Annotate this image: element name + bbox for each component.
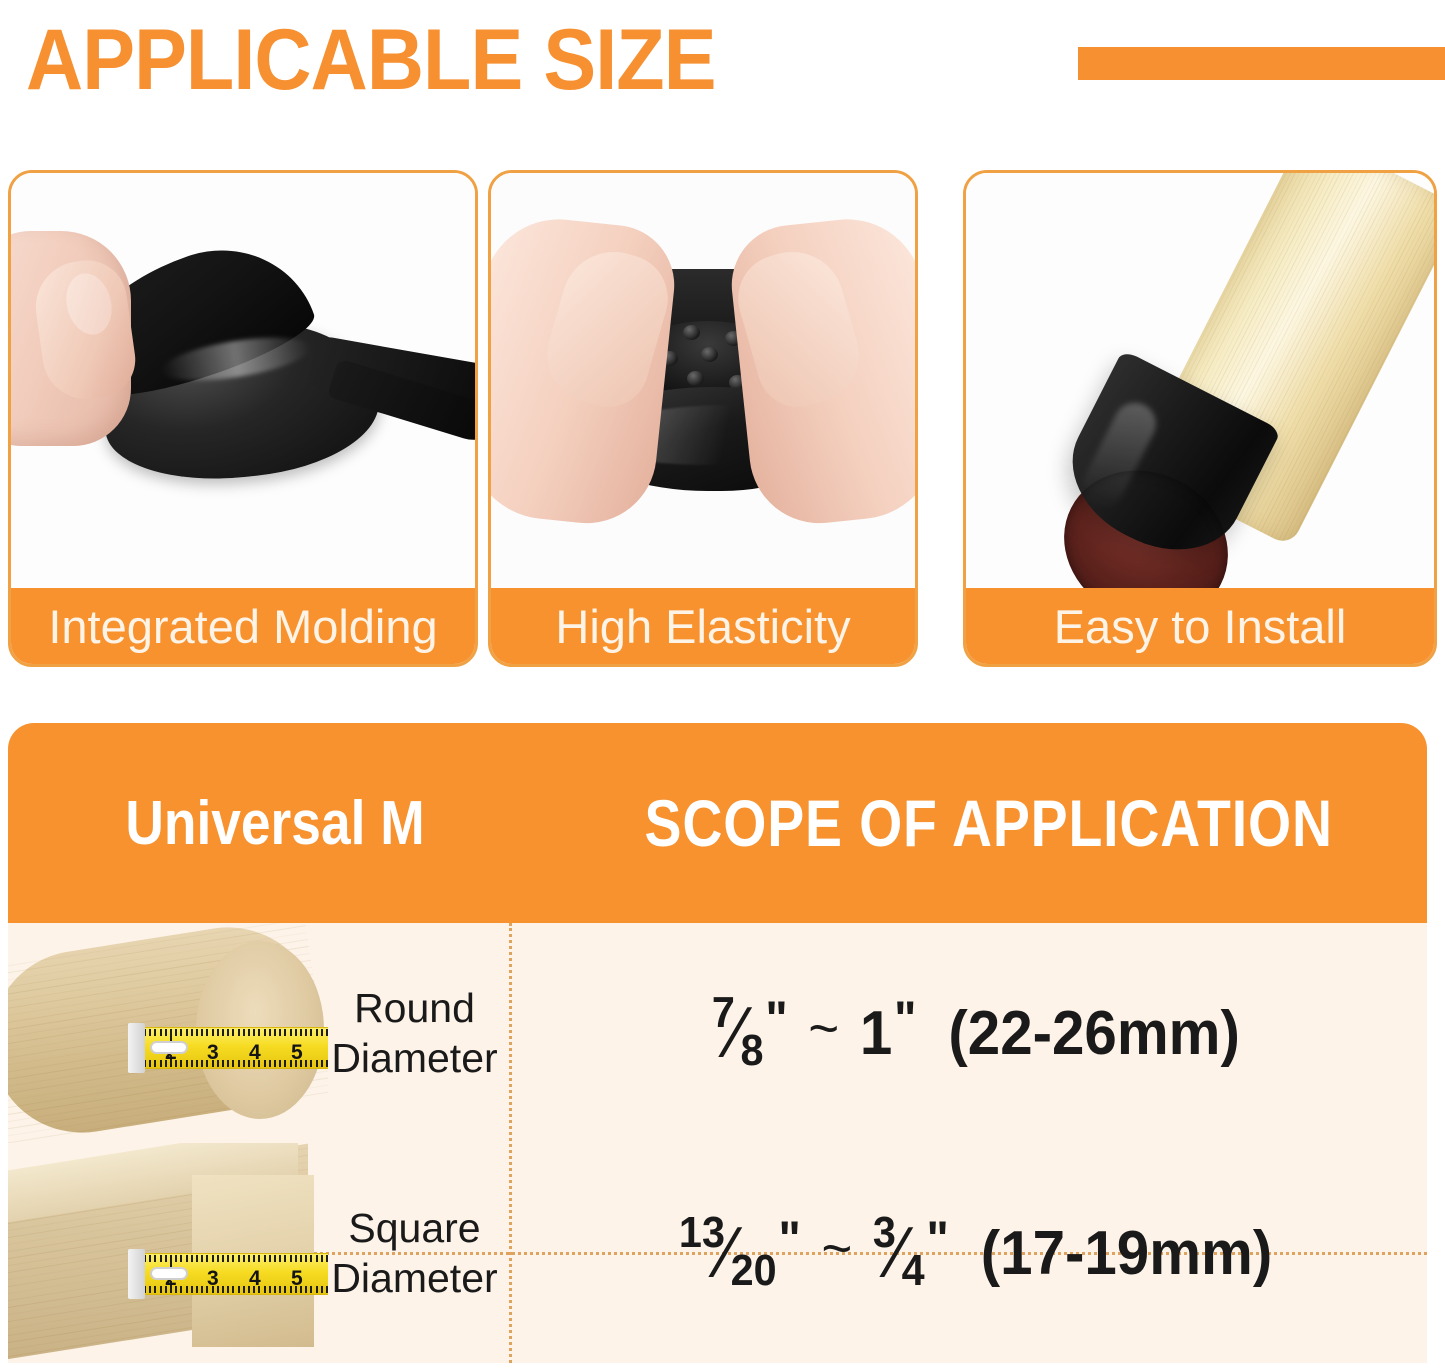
inch-mark: "	[766, 990, 788, 1048]
tape-measure-number: 4	[249, 1267, 261, 1291]
tape-tick	[191, 1255, 193, 1262]
feature-card-caption: Easy to Install	[966, 588, 1434, 664]
fraction-denominator: 4	[902, 1249, 925, 1293]
range-upper-whole: 1	[860, 998, 892, 1069]
tape-tick	[232, 1286, 234, 1293]
tape-tick	[186, 1029, 188, 1036]
tape-tick	[321, 1060, 323, 1067]
tape-tick	[290, 1029, 292, 1036]
metric-range: (17-19mm)	[981, 1218, 1273, 1289]
tape-tick	[321, 1255, 323, 1262]
tape-tick	[274, 1060, 276, 1067]
tape-tick	[326, 1029, 328, 1036]
tape-tick	[160, 1286, 162, 1293]
spec-header-scope-cell: SCOPE OF APPLICATION	[560, 785, 1427, 861]
page-title: APPLICABLE SIZE	[26, 12, 716, 108]
tape-tick	[212, 1029, 214, 1036]
tape-tick	[279, 1286, 281, 1293]
tape-tick	[316, 1060, 318, 1067]
tape-tick	[191, 1060, 193, 1067]
feature-card-row: Integrated Molding High Elasticity	[0, 170, 1445, 670]
fraction-denominator: 8	[741, 1029, 764, 1073]
tape-tick	[316, 1286, 318, 1293]
feature-card-caption-text: Easy to Install	[1054, 599, 1347, 654]
photo-high-elasticity	[491, 173, 915, 591]
tape-tick	[217, 1255, 219, 1262]
tape-tick	[279, 1029, 281, 1036]
spec-table-header: Universal M SCOPE OF APPLICATION	[8, 723, 1427, 923]
tape-tick	[201, 1029, 203, 1036]
photo-integrated-molding	[11, 173, 475, 591]
tape-tick	[154, 1029, 156, 1036]
tape-tick	[264, 1060, 266, 1067]
tape-hook	[128, 1023, 145, 1073]
tape-tick	[253, 1255, 255, 1262]
tape-tick	[201, 1060, 203, 1067]
tape-tick	[300, 1029, 302, 1036]
tape-tick	[196, 1029, 198, 1036]
tape-tick	[196, 1060, 198, 1067]
tape-tick	[243, 1029, 245, 1036]
tape-tick	[180, 1286, 182, 1293]
tape-tick	[206, 1255, 208, 1262]
tape-tick	[243, 1286, 245, 1293]
tape-tick	[295, 1029, 297, 1036]
tape-tick	[269, 1060, 271, 1067]
tape-tick	[264, 1029, 266, 1036]
tape-tick	[201, 1286, 203, 1293]
tape-tick	[212, 1255, 214, 1262]
tape-measure-number: 5	[291, 1041, 303, 1065]
tape-tick	[316, 1029, 318, 1036]
tape-tick	[149, 1286, 151, 1293]
feature-card-caption: Integrated Molding	[11, 588, 475, 664]
tape-measure-number: 3	[207, 1267, 219, 1291]
tape-hook	[128, 1249, 145, 1299]
tape-measure-number: 3	[207, 1041, 219, 1065]
spec-table-body: 2345 RoundDiameter 7 ⁄ 8 " ~	[8, 923, 1427, 1363]
fraction-thirteen-twentieths: 13 ⁄ 20	[679, 1217, 777, 1289]
tape-tick	[222, 1255, 224, 1262]
round-diameter-value-text: 7 ⁄ 8 " ~ 1 " (22-26mm)	[712, 997, 1240, 1069]
tape-tick	[326, 1255, 328, 1262]
tape-tick	[310, 1060, 312, 1067]
tape-tick	[326, 1286, 328, 1293]
tape-tick	[284, 1029, 286, 1036]
inch-mark: "	[927, 1210, 949, 1268]
tape-tick	[258, 1029, 260, 1036]
tape-tick	[170, 1255, 172, 1267]
tape-tick	[232, 1255, 234, 1262]
tape-tick	[284, 1060, 286, 1067]
spec-table: Universal M SCOPE OF APPLICATION 2345	[8, 723, 1427, 1363]
table-row: 2345 RoundDiameter 7 ⁄ 8 " ~	[8, 923, 1427, 1143]
tape-tick	[227, 1286, 229, 1293]
tape-tick	[279, 1060, 281, 1067]
tape-tick	[284, 1286, 286, 1293]
feature-card-easy-to-install: Easy to Install	[963, 170, 1437, 667]
tape-tick	[154, 1060, 156, 1067]
tape-tick	[160, 1029, 162, 1036]
tape-tick	[284, 1255, 286, 1262]
product-infographic: APPLICABLE SIZE Integrated Molding	[0, 0, 1445, 1371]
tape-measure-number: 4	[249, 1041, 261, 1065]
tape-tick	[160, 1060, 162, 1067]
tape-tick	[290, 1255, 292, 1262]
square-diameter-value-text: 13 ⁄ 20 " ~ 3 ⁄ 4 " (17-19mm)	[679, 1217, 1272, 1289]
tape-tick	[232, 1029, 234, 1036]
round-diameter-label: RoundDiameter	[328, 983, 509, 1083]
feature-card-caption-text: High Elasticity	[555, 599, 850, 654]
tape-tick	[149, 1255, 151, 1262]
range-separator: ~	[822, 1215, 853, 1280]
tape-tick	[295, 1255, 297, 1262]
tape-tick	[326, 1060, 328, 1067]
tape-tick	[154, 1255, 156, 1262]
feature-card-high-elasticity: High Elasticity	[488, 170, 918, 667]
tape-tick	[310, 1286, 312, 1293]
tape-measure-number: 5	[291, 1267, 303, 1291]
tape-tick	[227, 1060, 229, 1067]
tape-tick	[180, 1060, 182, 1067]
tape-tick	[258, 1255, 260, 1262]
tape-tick	[186, 1286, 188, 1293]
title-accent-bar	[1078, 47, 1445, 80]
tape-tick	[305, 1060, 307, 1067]
tape-tick	[269, 1029, 271, 1036]
round-diameter-label-text: RoundDiameter	[331, 983, 497, 1083]
tape-tick	[186, 1060, 188, 1067]
photo-easy-to-install	[966, 173, 1434, 591]
tape-tick	[321, 1029, 323, 1036]
round-leg-image-cell: 2345	[8, 923, 328, 1143]
table-row: 2345 SquareDiameter 13 ⁄ 20 "	[8, 1143, 1427, 1363]
tape-tick	[149, 1060, 151, 1067]
tape-tick	[165, 1029, 167, 1036]
fraction-denominator: 20	[731, 1249, 777, 1293]
tape-tick	[243, 1060, 245, 1067]
tape-tick	[264, 1286, 266, 1293]
round-diameter-value: 7 ⁄ 8 " ~ 1 " (22-26mm)	[509, 997, 1427, 1069]
tape-tick	[310, 1255, 312, 1262]
tape-tick	[248, 1255, 250, 1262]
tape-tick	[305, 1286, 307, 1293]
inch-mark: "	[894, 990, 916, 1048]
tape-tick	[149, 1029, 151, 1036]
spec-header-size-label: Universal M	[125, 788, 424, 859]
tape-tick	[180, 1255, 182, 1262]
spec-header-scope-label: SCOPE OF APPLICATION	[644, 785, 1332, 861]
tape-tick	[305, 1029, 307, 1036]
tape-tick	[321, 1286, 323, 1293]
tape-tick	[201, 1255, 203, 1262]
tape-tick	[222, 1060, 224, 1067]
spec-header-size-cell: Universal M	[8, 788, 560, 859]
fraction-numerator: 3	[873, 1211, 896, 1255]
fraction-numerator: 13	[679, 1211, 725, 1255]
tape-tick	[243, 1255, 245, 1262]
tape-tick	[274, 1286, 276, 1293]
tape-tick	[191, 1286, 193, 1293]
tape-tick	[154, 1286, 156, 1293]
tape-tick	[300, 1255, 302, 1262]
fraction-seven-eighths: 7 ⁄ 8	[712, 997, 764, 1069]
tape-tick	[253, 1029, 255, 1036]
tape-tick	[227, 1255, 229, 1262]
tape-tick	[186, 1255, 188, 1262]
range-separator: ~	[809, 995, 840, 1060]
tape-tick	[191, 1029, 193, 1036]
fraction-three-quarters: 3 ⁄ 4	[873, 1217, 925, 1289]
tape-clip	[150, 1267, 188, 1280]
tape-tick	[206, 1029, 208, 1036]
tape-tick	[274, 1029, 276, 1036]
tape-tick	[316, 1255, 318, 1262]
feature-card-caption-text: Integrated Molding	[48, 599, 437, 654]
tape-tick	[264, 1255, 266, 1262]
feature-card-caption: High Elasticity	[491, 588, 915, 664]
tape-tick	[238, 1255, 240, 1262]
tape-tick	[310, 1029, 312, 1036]
tape-tick	[232, 1060, 234, 1067]
metric-range: (22-26mm)	[949, 998, 1241, 1069]
tape-tick	[165, 1255, 167, 1262]
tape-tick	[175, 1255, 177, 1262]
tape-tick	[227, 1029, 229, 1036]
tape-tick	[222, 1286, 224, 1293]
tape-tick	[269, 1286, 271, 1293]
tape-tick	[238, 1029, 240, 1036]
tape-tick	[305, 1255, 307, 1262]
fraction-numerator: 7	[712, 991, 735, 1035]
tape-tick	[269, 1255, 271, 1262]
feature-card-integrated-molding: Integrated Molding	[8, 170, 478, 667]
tape-tick	[217, 1029, 219, 1036]
tape-tick	[175, 1029, 177, 1036]
tape-tick	[238, 1286, 240, 1293]
tape-tick	[170, 1029, 172, 1041]
tape-tick	[180, 1029, 182, 1036]
tape-tick	[196, 1286, 198, 1293]
tape-tick	[238, 1060, 240, 1067]
square-leg-image-cell: 2345	[8, 1143, 328, 1363]
tape-tick	[279, 1255, 281, 1262]
tape-tick	[222, 1029, 224, 1036]
tape-tick	[248, 1029, 250, 1036]
tape-tick	[274, 1255, 276, 1262]
tape-clip	[150, 1041, 188, 1054]
tape-tick	[196, 1255, 198, 1262]
tape-tick	[160, 1255, 162, 1262]
inch-mark: "	[779, 1210, 801, 1268]
